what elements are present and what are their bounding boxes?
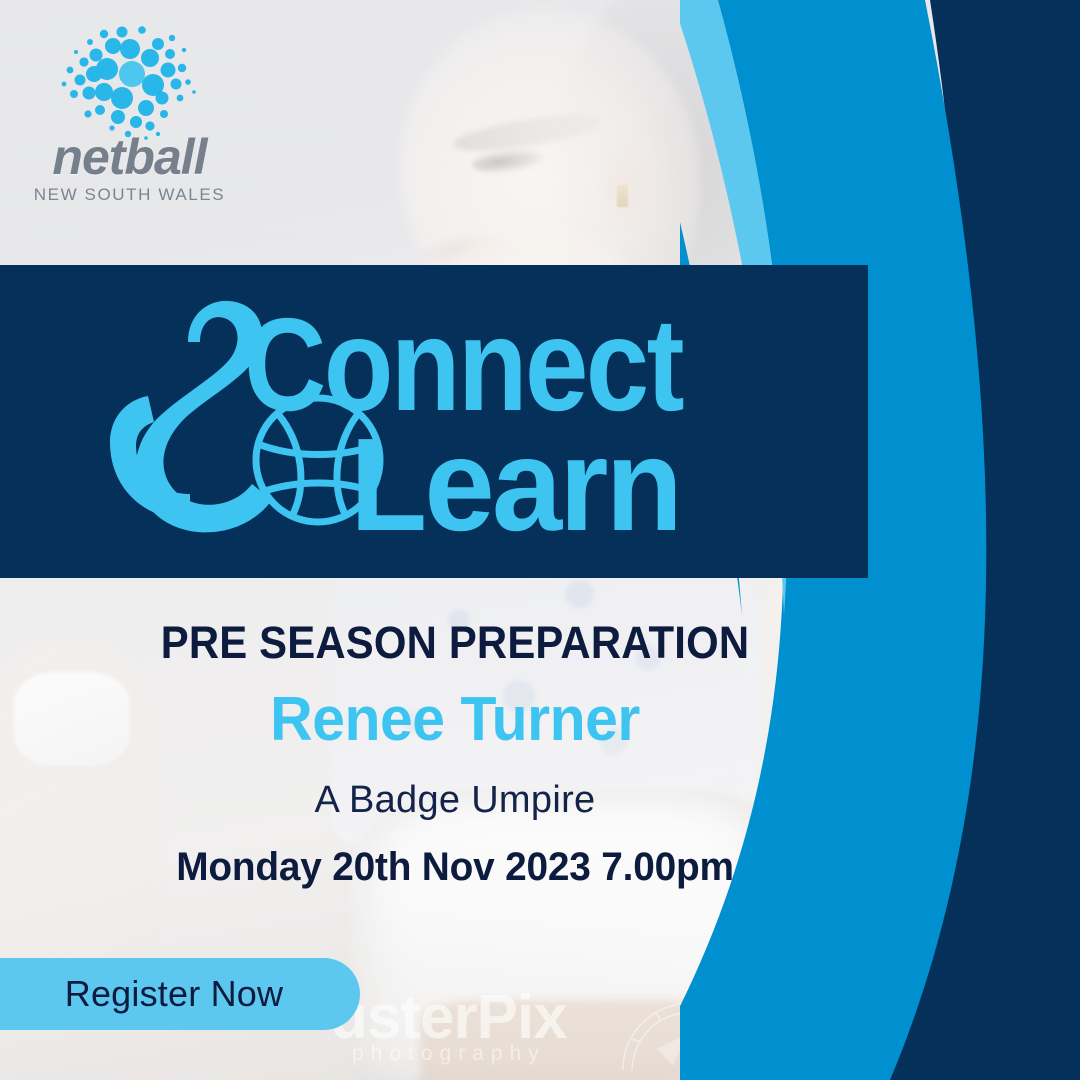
logo-wordmark: netball: [22, 132, 237, 182]
event-speaker-role: A Badge Umpire: [0, 781, 910, 819]
register-now-button[interactable]: Register Now: [0, 958, 360, 1030]
event-datetime: Monday 20th Nov 2023 7.00pm: [14, 847, 897, 887]
event-details: PRE SEASON PREPARATION Renee Turner A Ba…: [0, 620, 910, 887]
logo-sub-wordmark: NEW SOUTH WALES: [22, 186, 237, 203]
program-line-2: Learn: [350, 411, 680, 554]
event-poster: usterPix photography: [0, 0, 1080, 1080]
netball-dot-burst-icon: [58, 22, 198, 140]
register-now-label: Register Now: [65, 976, 283, 1012]
connect-and-learn-lockup: Connect Learn: [96, 292, 776, 554]
event-speaker-name: Renee Turner: [23, 689, 888, 751]
netball-nsw-logo: netball NEW SOUTH WALES: [22, 22, 237, 197]
event-title: PRE SEASON PREPARATION: [32, 620, 878, 665]
